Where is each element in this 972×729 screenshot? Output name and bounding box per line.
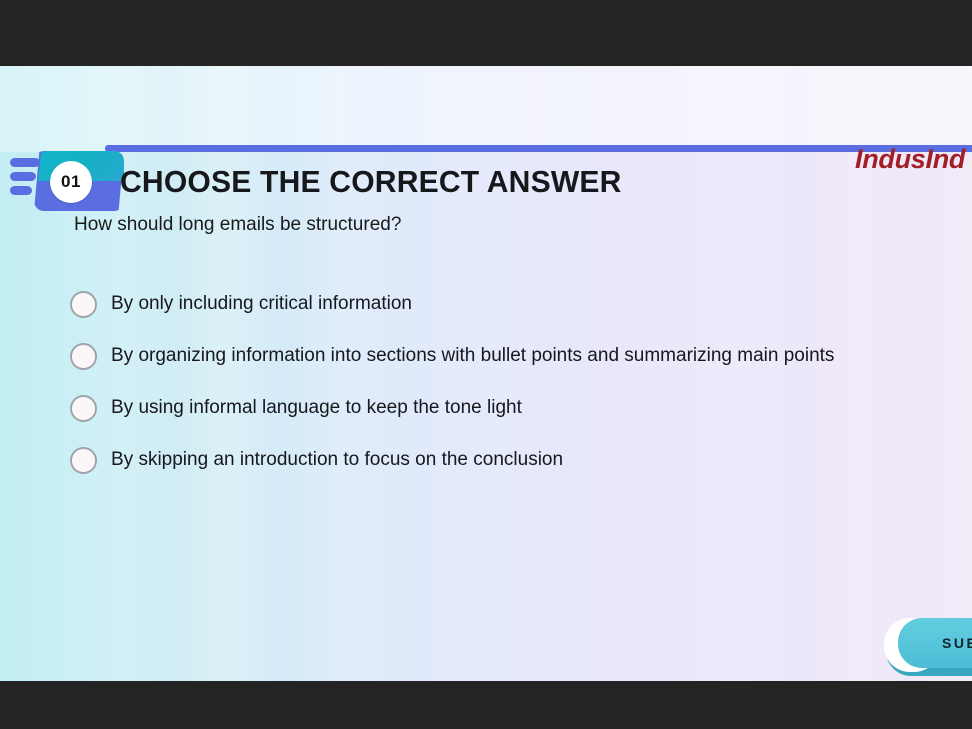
brand-logo: IndusInd [855, 144, 965, 175]
answer-option-1[interactable]: By only including critical information [70, 278, 970, 330]
title-underline-bar [105, 145, 972, 152]
answer-option-2[interactable]: By organizing information into sections … [70, 330, 970, 382]
answer-option-label-1: By only including critical information [111, 293, 412, 315]
radio-button-4[interactable] [70, 447, 97, 474]
radio-button-3[interactable] [70, 395, 97, 422]
menu-bar-3 [10, 186, 32, 195]
quiz-slide: 01 CHOOSE THE CORRECT ANSWER IndusInd Ho… [0, 66, 972, 681]
radio-button-1[interactable] [70, 291, 97, 318]
answer-options-list: By only including critical information B… [70, 278, 970, 486]
screen-root: 01 CHOOSE THE CORRECT ANSWER IndusInd Ho… [0, 0, 972, 729]
answer-option-4[interactable]: By skipping an introduction to focus on … [70, 434, 970, 486]
submit-button-body[interactable]: SUBMIT [898, 618, 972, 668]
page-title: CHOOSE THE CORRECT ANSWER [120, 164, 622, 200]
submit-button[interactable]: SUBMIT [884, 618, 972, 678]
answer-option-label-4: By skipping an introduction to focus on … [111, 449, 563, 471]
question-number-text: 01 [61, 172, 81, 192]
slide-header: 01 CHOOSE THE CORRECT ANSWER IndusInd [0, 66, 972, 152]
menu-bar-2 [10, 172, 36, 181]
answer-option-label-3: By using informal language to keep the t… [111, 397, 522, 419]
letterbox-top [0, 0, 972, 66]
question-number-badge: 01 [50, 161, 92, 203]
letterbox-bottom [0, 681, 972, 729]
radio-button-2[interactable] [70, 343, 97, 370]
answer-option-3[interactable]: By using informal language to keep the t… [70, 382, 970, 434]
answer-option-label-2: By organizing information into sections … [111, 345, 834, 367]
submit-button-label: SUBMIT [942, 635, 972, 651]
question-text: How should long emails be structured? [74, 214, 401, 236]
